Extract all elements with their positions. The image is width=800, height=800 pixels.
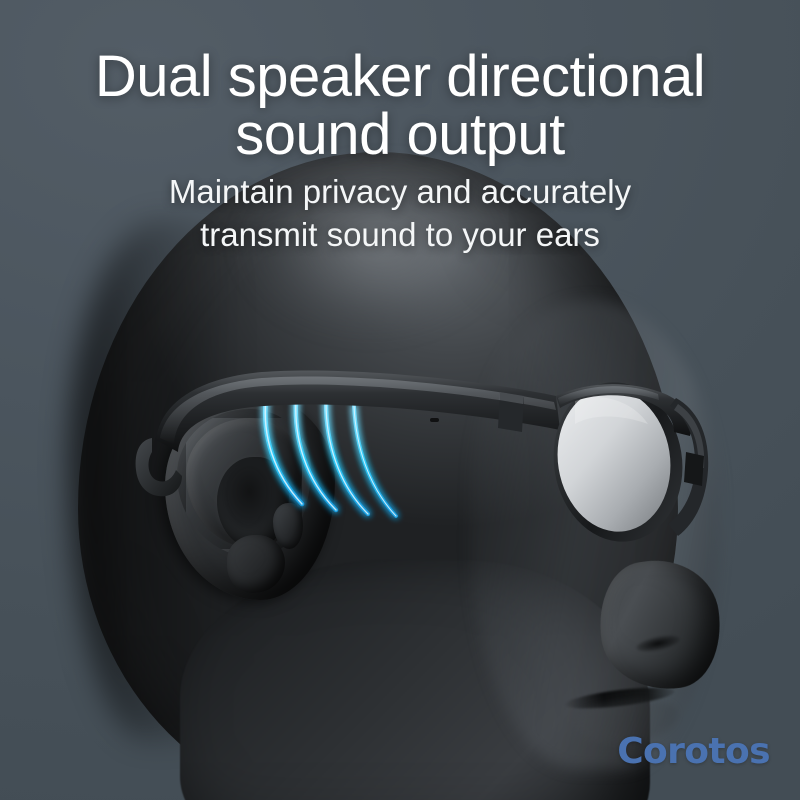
page-title: Dual speaker directional sound output: [0, 48, 800, 164]
page-subtitle: Maintain privacy and accurately transmit…: [0, 170, 800, 256]
product-marketing-poster: Dual speaker directional sound output Ma…: [0, 0, 800, 800]
ear: [165, 395, 335, 600]
brand-logo: Corotos: [617, 731, 770, 772]
